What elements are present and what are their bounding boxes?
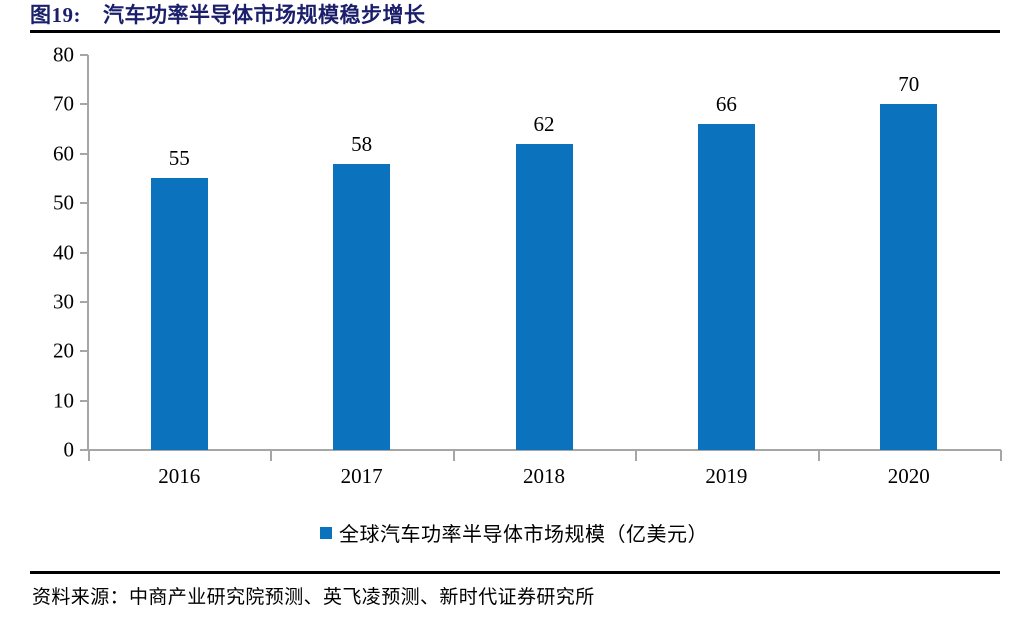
y-axis-tick [80,449,88,451]
legend-item-label: 全球汽车功率半导体市场规模（亿美元） [339,518,708,547]
bar-2019[interactable] [698,124,755,450]
x-axis-label-2019: 2019 [676,464,776,489]
y-axis-tick [80,54,88,56]
source-note: 资料来源：中商产业研究院预测、英飞凌预测、新时代证券研究所 [32,582,595,609]
x-axis-tick [88,450,90,461]
page-title: 汽车功率半导体市场规模稳步增长 [103,0,426,29]
bar-2017[interactable] [333,164,390,450]
figure-number: 图19: [30,0,81,29]
y-axis-tick [80,301,88,303]
y-axis-tick [80,350,88,352]
y-axis-tick-label: 60 [4,141,74,166]
bar-2016[interactable] [151,178,208,450]
y-axis-tick-label: 40 [4,240,74,265]
chart-legend: 全球汽车功率半导体市场规模（亿美元） [0,518,1028,547]
x-axis-label-2020: 2020 [859,464,959,489]
bar-2018[interactable] [516,144,573,450]
y-axis-tick-label: 80 [4,43,74,68]
square-marker-icon [320,527,332,539]
bar-value-label: 62 [504,112,584,137]
x-axis-tick [453,450,455,461]
bar-value-label: 66 [686,92,766,117]
bar-value-label: 58 [322,132,402,157]
y-axis-tick [80,103,88,105]
source-divider [30,571,1000,574]
x-axis-tick [635,450,637,461]
x-axis-tick [270,450,272,461]
y-axis-tick-label: 50 [4,191,74,216]
y-axis-tick [80,202,88,204]
y-axis-tick-label: 10 [4,388,74,413]
y-axis-tick [80,400,88,402]
x-axis-label-2017: 2017 [312,464,412,489]
x-axis-label-2016: 2016 [129,464,229,489]
y-axis-tick-label: 0 [4,438,74,463]
x-axis-label-2018: 2018 [494,464,594,489]
y-axis-tick-label: 20 [4,339,74,364]
figure-title: 图19: 汽车功率半导体市场规模稳步增长 [30,0,1000,29]
x-axis-tick [818,450,820,461]
x-axis-tick [1000,450,1002,461]
bar-2020[interactable] [880,104,937,450]
y-axis-tick-label: 70 [4,92,74,117]
bar-value-label: 55 [139,146,219,171]
bar-chart: 80706050403020100 5558626670 20162017201… [0,34,1028,514]
y-axis-tick-label: 30 [4,289,74,314]
y-axis-tick [80,153,88,155]
bar-value-label: 70 [869,72,949,97]
y-axis-tick [80,252,88,254]
title-divider [30,30,1000,33]
